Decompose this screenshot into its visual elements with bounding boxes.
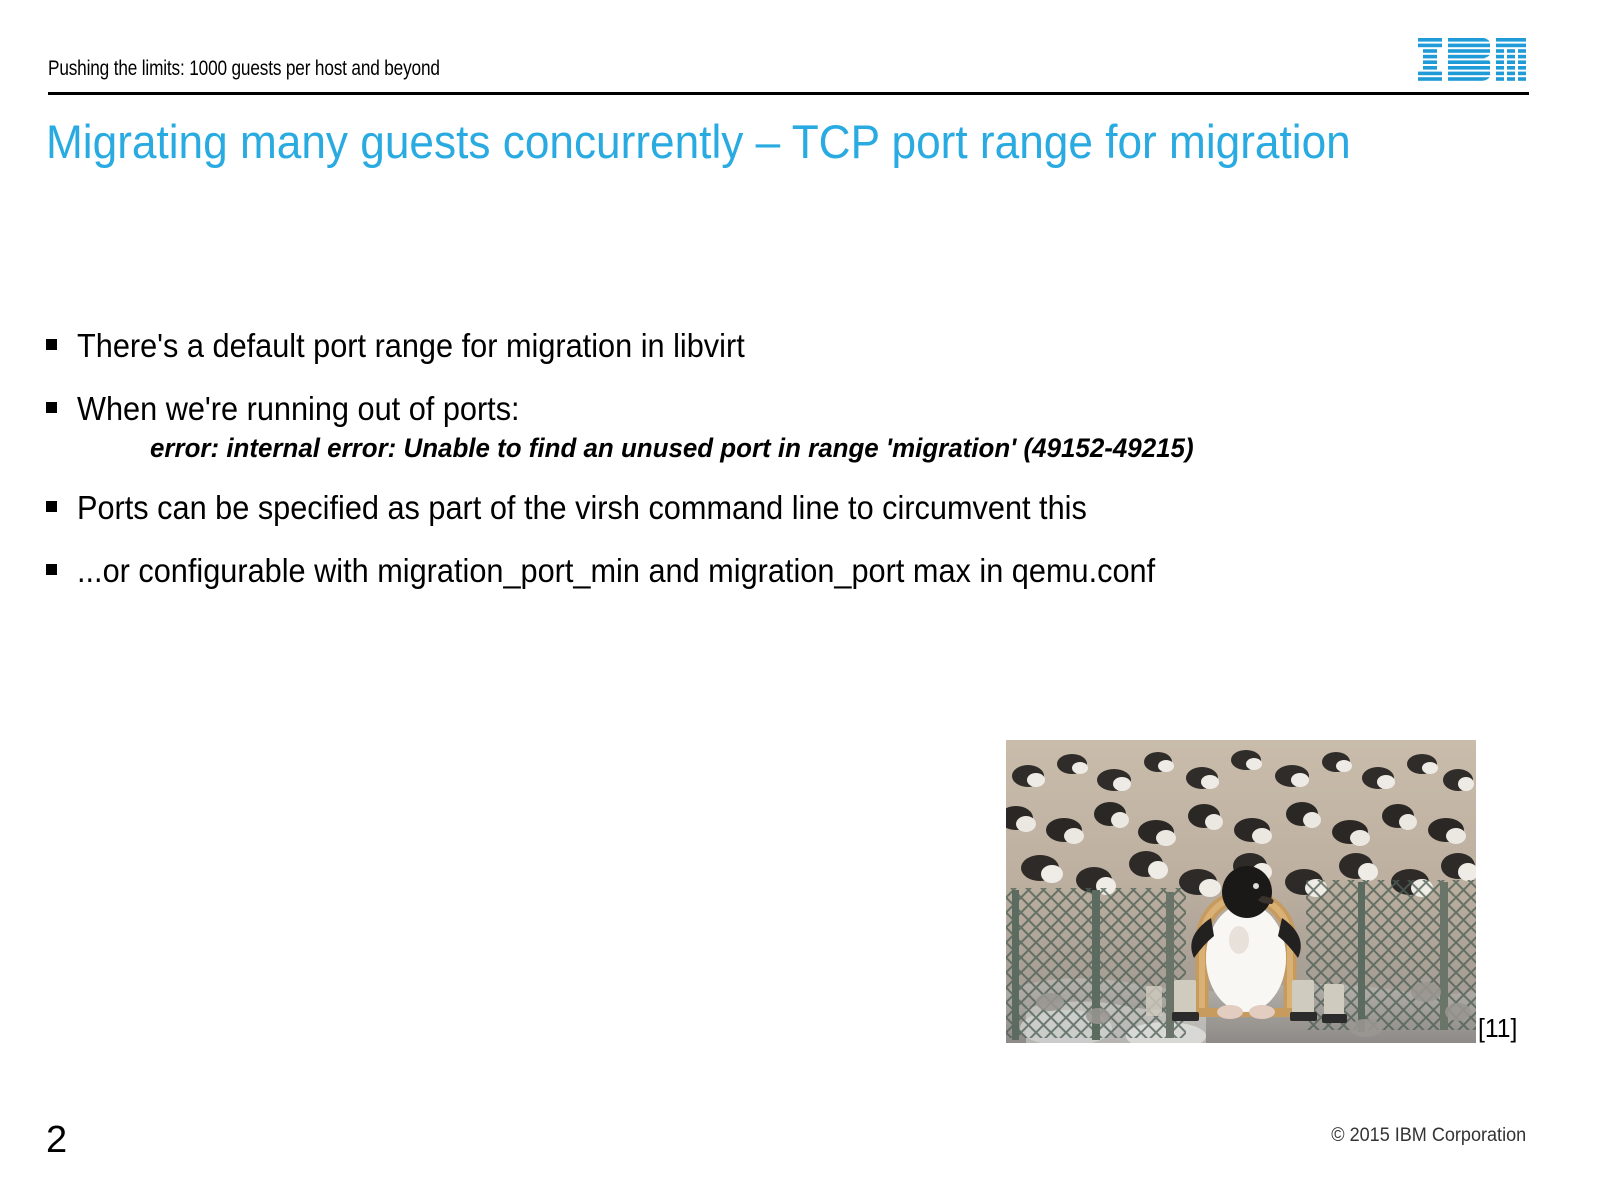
header-divider — [48, 92, 1529, 95]
square-bullet-icon — [46, 564, 57, 575]
copyright-notice: © 2015 IBM Corporation — [1331, 1124, 1526, 1148]
slide-header: Pushing the limits: 1000 guests per host… — [0, 0, 1600, 100]
bullet-group: Ports can be specified as part of the vi… — [46, 487, 1526, 528]
list-item-label: There's a default port range for migrati… — [77, 325, 1425, 366]
page-title: Migrating many guests concurrently – TCP… — [46, 113, 1456, 171]
square-bullet-icon — [46, 339, 57, 350]
bullet-list: There's a default port range for migrati… — [46, 325, 1526, 613]
list-item-label: ...or configurable with migration_port_m… — [77, 550, 1425, 591]
square-bullet-icon — [46, 402, 57, 413]
error-message-text: error: internal error: Unable to find an… — [150, 431, 1471, 465]
photo-citation: [11] — [1478, 1013, 1517, 1043]
page-number: 2 — [46, 1118, 67, 1162]
list-item-label: Ports can be specified as part of the vi… — [77, 487, 1425, 528]
bullet-group: When we're running out of ports: error: … — [46, 388, 1526, 465]
bullet-group: ...or configurable with migration_port_m… — [46, 550, 1526, 591]
ibm-logo-icon — [1418, 38, 1526, 81]
list-item: When we're running out of ports: — [46, 388, 1526, 429]
bullet-group: There's a default port range for migrati… — [46, 325, 1526, 366]
list-item-label: When we're running out of ports: — [77, 388, 1425, 429]
list-item: ...or configurable with migration_port_m… — [46, 550, 1526, 591]
photo-image — [1006, 740, 1476, 1043]
penguin-photo — [1006, 740, 1476, 1043]
deck-title: Pushing the limits: 1000 guests per host… — [48, 57, 440, 81]
slide: Pushing the limits: 1000 guests per host… — [0, 0, 1600, 1200]
square-bullet-icon — [46, 501, 57, 512]
list-item: Ports can be specified as part of the vi… — [46, 487, 1526, 528]
list-item: There's a default port range for migrati… — [46, 325, 1526, 366]
